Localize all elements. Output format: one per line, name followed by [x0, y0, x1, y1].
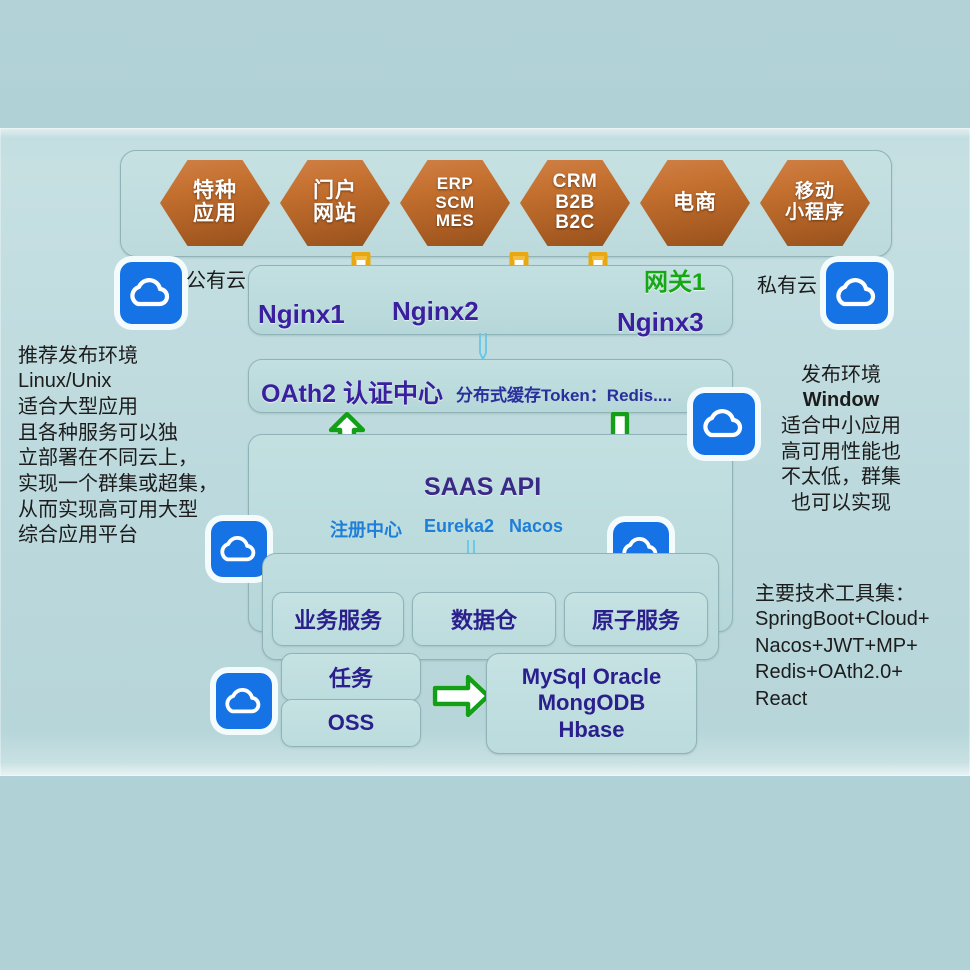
nginx3-label[interactable]: Nginx3	[617, 307, 704, 338]
hex-line: ERP	[435, 175, 474, 193]
note-right-bottom-line: Nacos+JWT+MP+	[755, 633, 965, 659]
note-right-top-line: 发布环境	[752, 362, 930, 388]
service-box-business[interactable]: 业务服务	[272, 592, 404, 646]
hex-line: CRM	[553, 172, 598, 193]
connector-gateway-auth	[476, 333, 490, 361]
note-left-line: 推荐发布环境	[18, 343, 248, 369]
hex-line: B2C	[553, 213, 598, 234]
hex-line: 小程序	[785, 203, 845, 224]
hex-line: 电商	[673, 192, 717, 215]
note-right-bottom-line: SpringBoot+Cloud+	[755, 606, 965, 632]
note-left: 推荐发布环境 Linux/Unix 适合大型应用 且各种服务可以独 立部署在不同…	[18, 343, 248, 548]
cache-token-note: 分布式缓存Token：Redis....	[456, 381, 672, 406]
hex-line: B2B	[553, 193, 598, 214]
cloud-icon-auth-right	[693, 393, 755, 455]
hex-line: 应用	[193, 203, 237, 226]
hex-line: 特种	[193, 180, 237, 203]
oss-box[interactable]: OSS	[281, 699, 421, 747]
note-left-line: 实现一个群集或超集，	[18, 471, 248, 497]
flow-arrow-right-green	[432, 672, 492, 727]
note-right-top-line: 适合中小应用	[752, 413, 930, 439]
note-left-line: 从而实现高可用大型	[18, 497, 248, 523]
note-left-line: 且各种服务可以独	[18, 420, 248, 446]
private-cloud-label: 私有云	[757, 269, 817, 298]
cloud-icon-bottom-left	[216, 673, 272, 729]
hex-line: 网站	[313, 203, 357, 226]
note-right-top-line: Window	[752, 388, 930, 414]
note-left-line: 综合应用平台	[18, 522, 248, 548]
note-right-bottom-line: Redis+OAth2.0+	[755, 659, 965, 685]
hex-line: 移动	[785, 182, 845, 203]
nginx2-label[interactable]: Nginx2	[392, 296, 479, 327]
hex-line: 门户	[313, 180, 357, 203]
service-box-datawarehouse[interactable]: 数据仓	[412, 592, 556, 646]
hex-line: SCM	[435, 194, 474, 212]
task-box[interactable]: 任务	[281, 653, 421, 701]
database-box[interactable]: MySql Oracle MongODB Hbase	[486, 653, 697, 754]
hex-line: MES	[435, 212, 474, 230]
note-right-top-line: 不太低，群集	[752, 464, 930, 490]
cloud-icon-public	[120, 262, 182, 324]
service-box-atomic[interactable]: 原子服务	[564, 592, 708, 646]
note-right-top-line: 高可用性能也	[752, 439, 930, 465]
note-left-line: 立部署在不同云上，	[18, 445, 248, 471]
gateway1-tag: 网关1	[644, 262, 705, 297]
oath2-title[interactable]: OAth2 认证中心	[261, 374, 443, 410]
nginx1-label[interactable]: Nginx1	[258, 299, 345, 330]
note-right-top: 发布环境 Window 适合中小应用 高可用性能也 不太低，群集 也可以实现	[752, 362, 930, 516]
note-left-line: Linux/Unix	[18, 369, 248, 395]
registry-eureka2: Eureka2	[424, 516, 494, 537]
cloud-icon-private	[826, 262, 888, 324]
note-right-bottom: 主要技术工具集： SpringBoot+Cloud+ Nacos+JWT+MP+…	[755, 580, 965, 712]
architecture-diagram: 特种应用 门户网站 ERPSCMMES CRMB2BB2C 电商 移动小程序	[0, 0, 970, 970]
note-left-line: 适合大型应用	[18, 394, 248, 420]
note-right-bottom-line: 主要技术工具集：	[755, 580, 965, 606]
db-line: MongODB	[538, 690, 646, 716]
registry-nacos: Nacos	[509, 516, 563, 537]
db-line: MySql Oracle	[522, 664, 661, 690]
note-right-top-line: 也可以实现	[752, 490, 930, 516]
db-line: Hbase	[558, 717, 624, 743]
note-right-bottom-line: React	[755, 686, 965, 712]
saas-api-title: SAAS API	[424, 473, 541, 502]
registry-label: 注册中心	[330, 516, 402, 542]
public-cloud-label: 公有云	[186, 264, 246, 293]
